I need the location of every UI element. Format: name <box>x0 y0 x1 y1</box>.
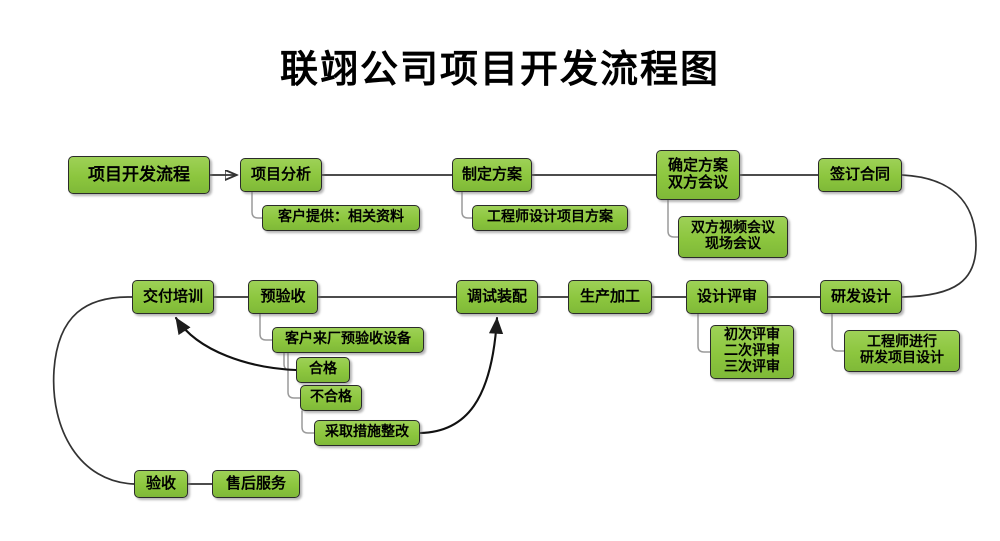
wire-confirm-sub <box>668 200 678 237</box>
node-delivery-training[interactable]: 交付培训 <box>132 280 214 314</box>
node-confirm-plan-bilateral-meeting[interactable]: 确定方案 双方会议 <box>656 150 740 200</box>
wire-contract-to-rd <box>902 175 976 297</box>
wire-rectify-to-assembly <box>420 318 497 433</box>
node-customer-onsite-preacceptance[interactable]: 客户来厂预验收设备 <box>272 327 424 353</box>
node-design-review[interactable]: 设计评审 <box>686 280 768 314</box>
wire-plan-sub <box>462 192 472 218</box>
node-review-rounds[interactable]: 初次评审 二次评审 三次评审 <box>710 325 794 379</box>
node-debug-assembly[interactable]: 调试装配 <box>456 280 538 314</box>
node-project-analysis[interactable]: 项目分析 <box>240 158 322 192</box>
node-take-corrective-measures[interactable]: 采取措施整改 <box>314 420 420 446</box>
wire-sub1-to-pass <box>284 353 296 370</box>
page-title: 联翊公司项目开发流程图 <box>0 38 1000 93</box>
wire-preaccept-sub1 <box>260 314 272 340</box>
node-rd-design[interactable]: 研发设计 <box>820 280 902 314</box>
node-acceptance[interactable]: 验收 <box>134 470 188 498</box>
node-qualified[interactable]: 合格 <box>296 357 350 383</box>
node-after-sales-service[interactable]: 售后服务 <box>212 470 300 498</box>
node-pre-acceptance[interactable]: 预验收 <box>248 280 318 314</box>
wire-delivery-to-acceptance <box>54 297 134 484</box>
node-sign-contract[interactable]: 签订合同 <box>818 158 902 192</box>
node-production-processing[interactable]: 生产加工 <box>568 280 652 314</box>
node-customer-provides-materials[interactable]: 客户提供：相关资料 <box>262 205 420 231</box>
node-project-development-process[interactable]: 项目开发流程 <box>68 156 210 194</box>
wire-rd-sub <box>832 314 844 351</box>
node-video-and-onsite-meeting[interactable]: 双方视频会议 现场会议 <box>678 216 788 258</box>
wire-analysis-sub <box>252 192 262 218</box>
node-unqualified[interactable]: 不合格 <box>300 385 362 411</box>
wire-review-sub <box>698 314 710 352</box>
node-engineer-designs-plan[interactable]: 工程师设计项目方案 <box>472 205 628 231</box>
node-formulate-plan[interactable]: 制定方案 <box>452 158 532 192</box>
wire-fail-to-rectify <box>302 411 314 433</box>
node-engineer-rd-project-design[interactable]: 工程师进行 研发项目设计 <box>844 330 960 372</box>
flowchart-canvas: 联翊公司项目开发流程图 <box>0 0 1000 541</box>
